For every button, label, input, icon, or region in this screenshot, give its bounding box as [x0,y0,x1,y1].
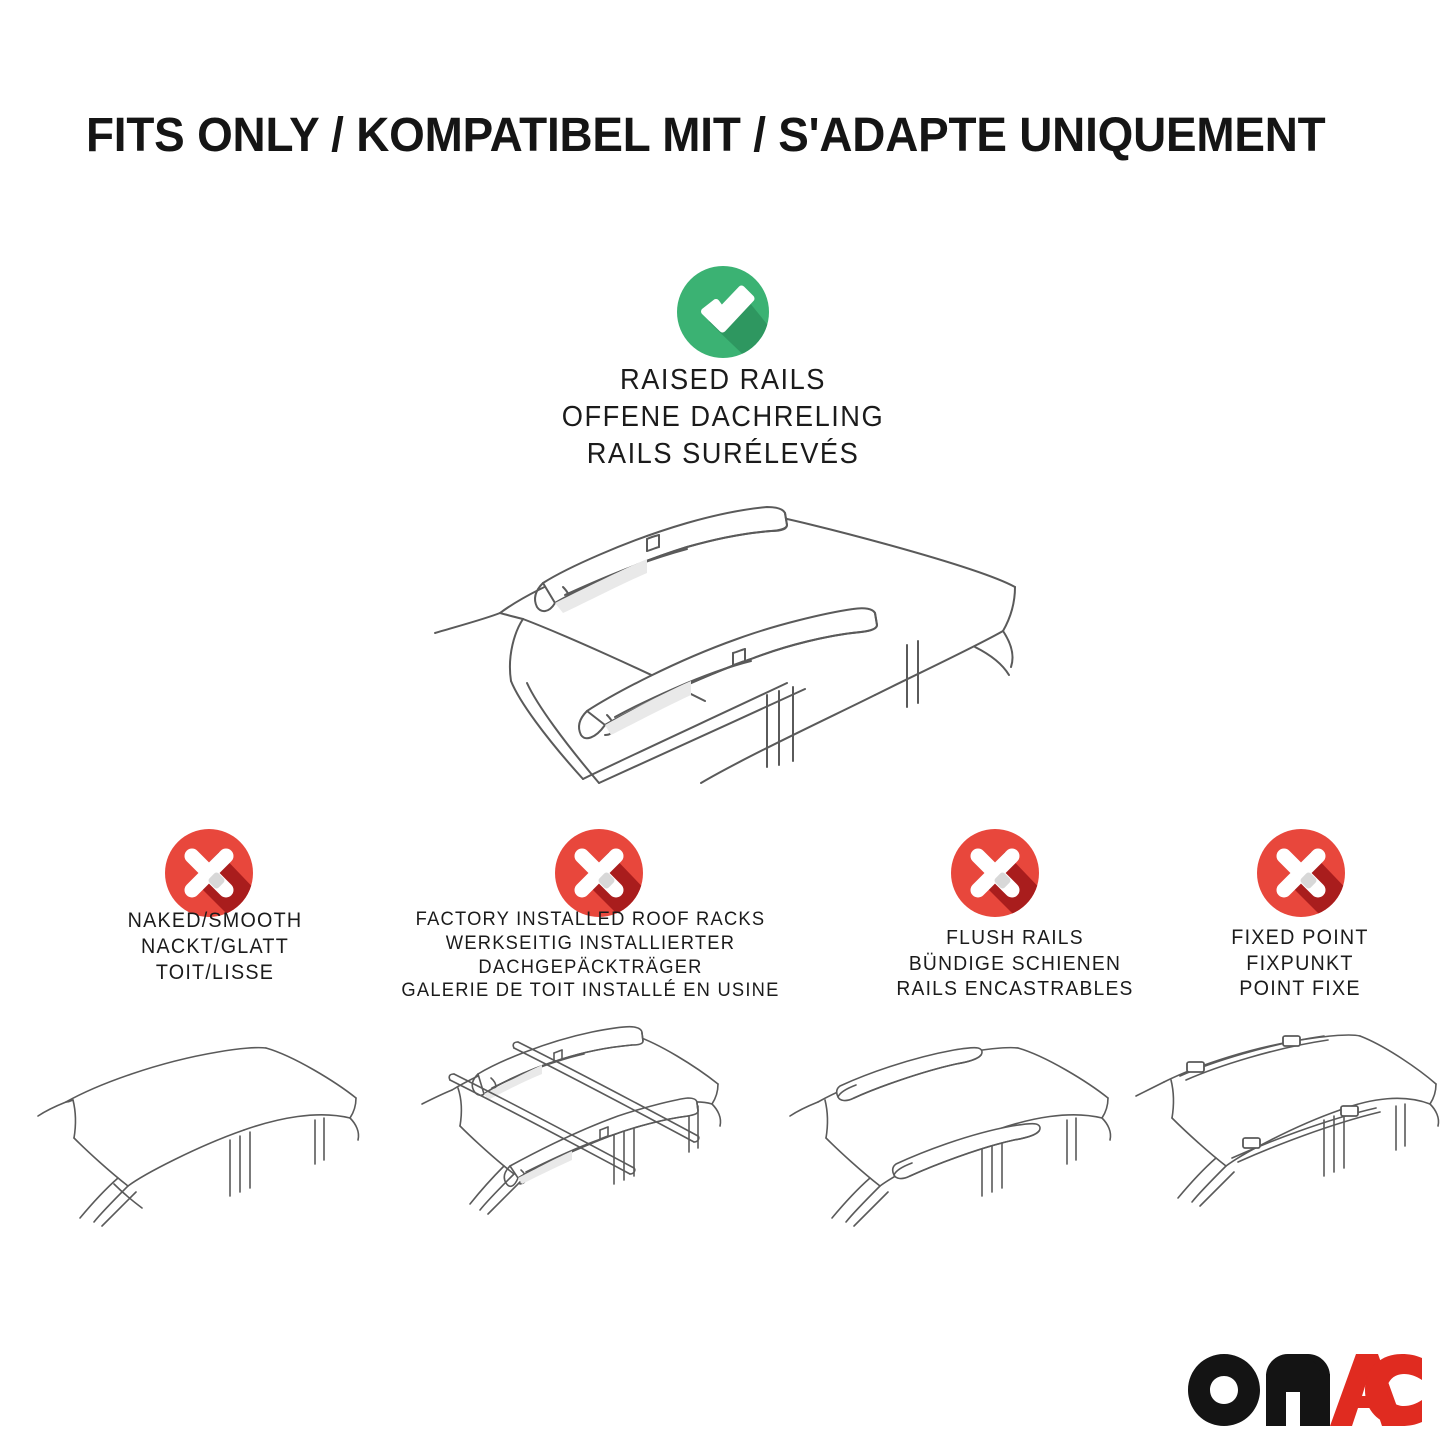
car-roof-fixed-point-illustration [1128,1022,1445,1272]
incompatible-caption-flush-rails: FLUSH RAILS BÜNDIGE SCHIENEN RAILS ENCAS… [846,925,1184,1002]
car-roof-naked-smooth-illustration [18,1022,390,1272]
caption-line: FIXED POINT [1164,925,1437,951]
incompatible-caption-fixed-point: FIXED POINT FIXPUNKT POINT FIXE [1164,925,1437,1002]
check-circle-icon [663,254,783,374]
caption-line: DACHGEPÄCKTRÄGER [381,956,799,980]
incompatible-caption-factory-roof-racks: FACTORY INSTALLED ROOF RACKS WERKSEITIG … [381,908,799,1003]
caption-line: POINT FIXE [1164,976,1437,1002]
caption-line: FIXPUNKT [1164,951,1437,977]
cross-circle-icon [939,820,1051,932]
caption-line: FLUSH RAILS [846,925,1184,951]
caption-line: WERKSEITIG INSTALLIERTER [381,932,799,956]
caption-line: NAKED/SMOOTH [46,908,384,934]
car-roof-flush-rails-illustration [770,1022,1142,1272]
incompatible-caption-naked-smooth: NAKED/SMOOTH NACKT/GLATT TOIT/LISSE [46,908,384,986]
car-roof-raised-rails-illustration [415,495,1035,785]
caption-line: RAILS ENCASTRABLES [846,976,1184,1002]
compatible-caption: RAISED RAILS OFFENE DACHRELING RAILS SUR… [441,362,1005,473]
car-roof-factory-roof-racks-illustration [392,1012,764,1272]
caption-line: RAISED RAILS [441,362,1005,399]
caption-line: FACTORY INSTALLED ROOF RACKS [381,908,799,932]
caption-line: OFFENE DACHRELING [441,399,1005,436]
caption-line: BÜNDIGE SCHIENEN [846,951,1184,977]
caption-line: TOIT/LISSE [46,960,384,986]
omac-logo [1186,1352,1424,1428]
page-title: FITS ONLY / KOMPATIBEL MIT / S'ADAPTE UN… [86,108,1308,164]
caption-line: NACKT/GLATT [46,934,384,960]
caption-line: GALERIE DE TOIT INSTALLÉ EN USINE [381,979,799,1003]
cross-circle-icon [1245,820,1357,932]
caption-line: RAILS SURÉLEVÉS [441,436,1005,473]
